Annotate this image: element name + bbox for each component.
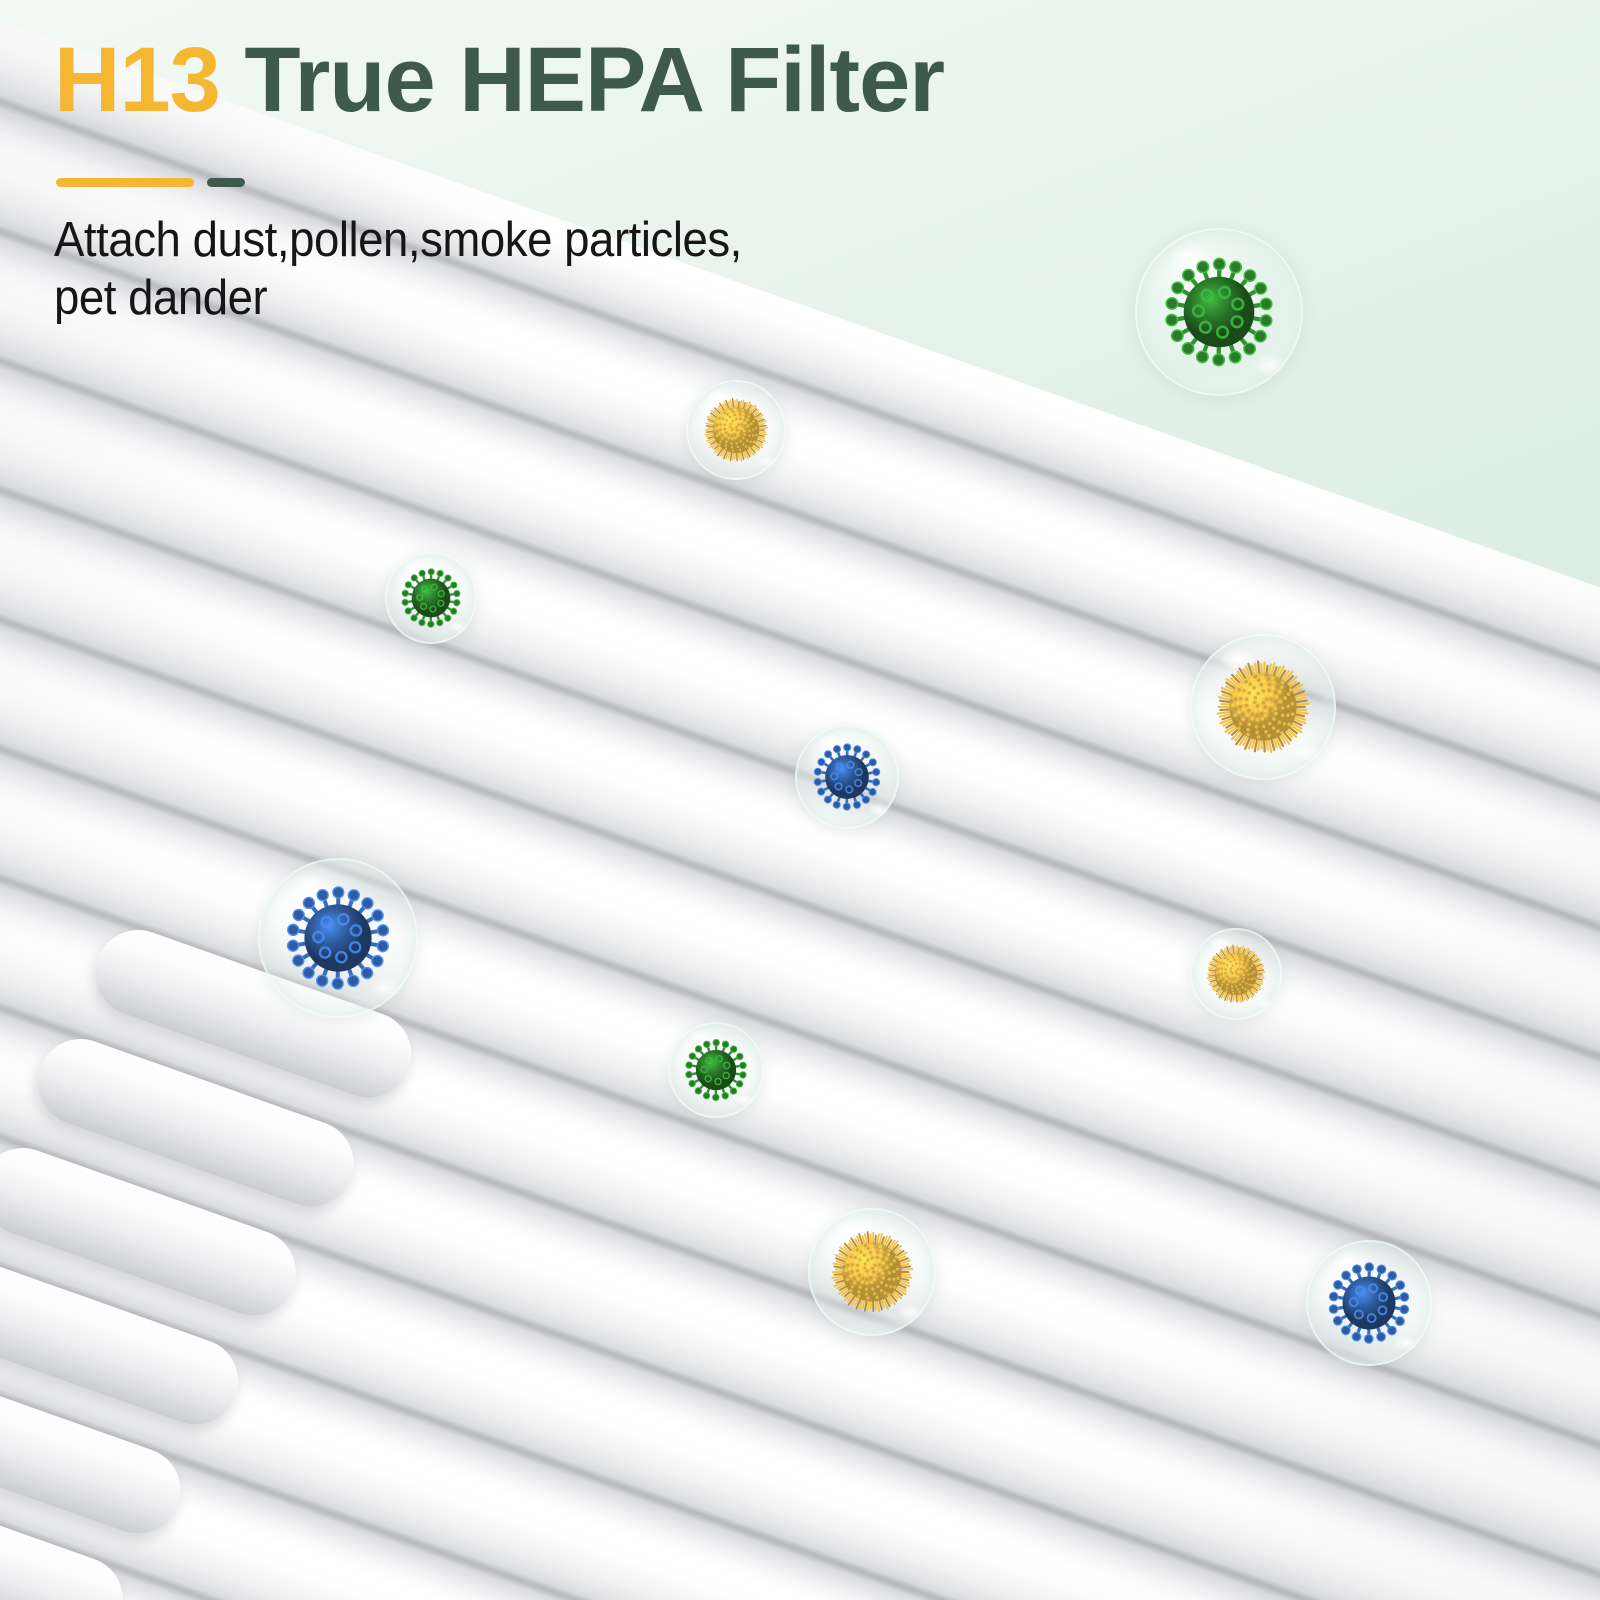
- pollen-yellow-small-right: [1190, 928, 1282, 1020]
- page-subtitle: Attach dust,pollen,smoke particles, pet …: [54, 212, 742, 328]
- title-grade-label: H13: [54, 29, 220, 131]
- virus-green-large: [1135, 228, 1303, 396]
- virus-green-small-bottom: [668, 1022, 764, 1118]
- virus-green-small-left: [385, 552, 477, 644]
- title-main-label: True HEPA Filter: [220, 29, 944, 131]
- divider-segment-long: [56, 178, 194, 187]
- virus-blue-large: [258, 858, 418, 1018]
- title-divider: [56, 178, 245, 187]
- pollen-yellow-large: [1190, 634, 1336, 780]
- page-title: H13 True HEPA Filter: [54, 34, 944, 126]
- infographic-canvas: H13 True HEPA Filter Attach dust,pollen,…: [0, 0, 1600, 1600]
- virus-blue-medium: [795, 725, 899, 829]
- virus-blue-bottom-right: [1306, 1240, 1432, 1366]
- pollen-yellow-bottom: [808, 1208, 936, 1336]
- divider-segment-short: [207, 178, 245, 187]
- pollen-yellow-small-top: [686, 380, 786, 480]
